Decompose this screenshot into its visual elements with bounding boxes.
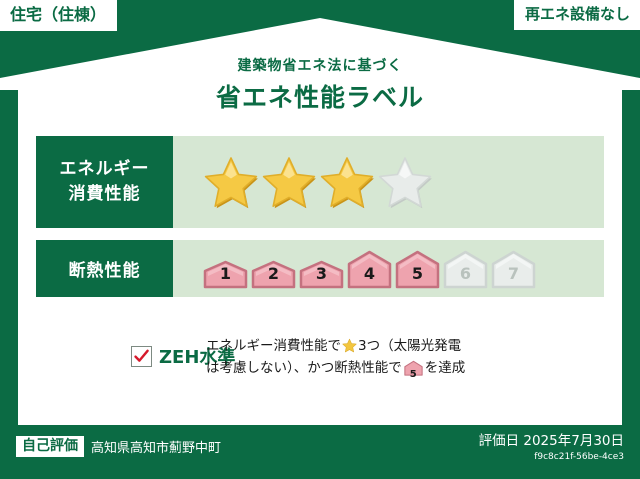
insulation-grade-4: 4	[347, 249, 392, 289]
footer-right: 評価日 2025年7月30日 f9c8c21f-56be-4ce3	[479, 434, 624, 462]
insulation-grade-2: 2	[251, 257, 296, 289]
badge-building-type: 住宅（住棟）	[0, 0, 117, 31]
evaluation-date: 評価日 2025年7月30日	[479, 434, 624, 450]
insulation-grade-6: 6	[443, 249, 488, 289]
self-assessment-badge: 自己評価	[16, 436, 84, 457]
insulation-grade-1: 1	[203, 257, 248, 289]
badge-renewable-energy: 再エネ設備なし	[514, 0, 640, 30]
grade-number: 1	[203, 264, 248, 283]
insulation-grade-5: 5	[395, 249, 440, 289]
inline-grade-badge: 5	[404, 360, 423, 384]
row-energy-label: エネルギー 消費性能	[36, 136, 173, 228]
row-insulation-performance: 断熱性能 1234567	[36, 240, 604, 297]
title-subtitle: 建築物省エネ法に基づく	[18, 55, 622, 75]
zeh-description-line1: エネルギー消費性能で 3つ（太陽光発電	[206, 336, 465, 358]
zeh-desc-text-a: エネルギー消費性能で	[206, 338, 341, 354]
row-energy-body	[173, 136, 604, 228]
grade-number: 3	[299, 264, 344, 283]
inline-star-icon	[342, 338, 357, 353]
grade-number: 4	[347, 264, 392, 283]
energy-performance-label: 住宅（住棟） 再エネ設備なし 建築物省エネ法に基づく 省エネ性能ラベル エネルギ…	[0, 0, 640, 479]
insulation-grade-3: 3	[299, 257, 344, 289]
zeh-checkbox[interactable]	[131, 346, 152, 367]
row-energy-performance: エネルギー 消費性能	[36, 136, 604, 228]
zeh-description-line2: は考慮しない）、かつ断熱性能で 5を達成	[206, 358, 465, 384]
grade-number: 2	[251, 264, 296, 283]
grade-number: 6	[443, 264, 488, 283]
star-empty-icon	[377, 154, 433, 210]
grade-number: 7	[491, 264, 536, 283]
zeh-description: エネルギー消費性能で 3つ（太陽光発電 は考慮しない）、かつ断熱性能で 5を達成	[196, 330, 465, 384]
footer-left: 自己評価 高知県高知市薊野中町	[16, 436, 221, 457]
row-energy-label-line2: 消費性能	[69, 182, 141, 207]
address-text: 高知県高知市薊野中町	[91, 437, 221, 456]
star-filled-icon	[319, 154, 375, 210]
check-icon	[133, 348, 150, 365]
zeh-section: ZEH水準 エネルギー消費性能で 3つ（太陽光発電 は考慮しない）、かつ断熱性能…	[36, 330, 604, 384]
title-main: 省エネ性能ラベル	[18, 78, 622, 114]
insulation-grade-scale: 1234567	[203, 249, 536, 289]
grade-number: 5	[395, 264, 440, 283]
zeh-desc-text-d: を達成	[425, 360, 466, 376]
zeh-checkbox-group: ZEH水準	[36, 330, 196, 369]
zeh-desc-text-b: 3つ（太陽光発電	[358, 338, 461, 354]
zeh-desc-text-c: は考慮しない）、かつ断熱性能で	[206, 360, 402, 376]
row-energy-label-line1: エネルギー	[60, 157, 150, 182]
evaluation-id: f9c8c21f-56be-4ce3	[479, 452, 624, 463]
star-filled-icon	[261, 154, 317, 210]
star-filled-icon	[203, 154, 259, 210]
insulation-grade-7: 7	[491, 249, 536, 289]
page-title: 建築物省エネ法に基づく 省エネ性能ラベル	[18, 55, 622, 114]
star-rating	[203, 154, 433, 210]
row-insulation-body: 1234567	[173, 240, 604, 297]
inline-grade-number: 5	[404, 367, 423, 383]
row-insulation-label: 断熱性能	[36, 240, 173, 297]
